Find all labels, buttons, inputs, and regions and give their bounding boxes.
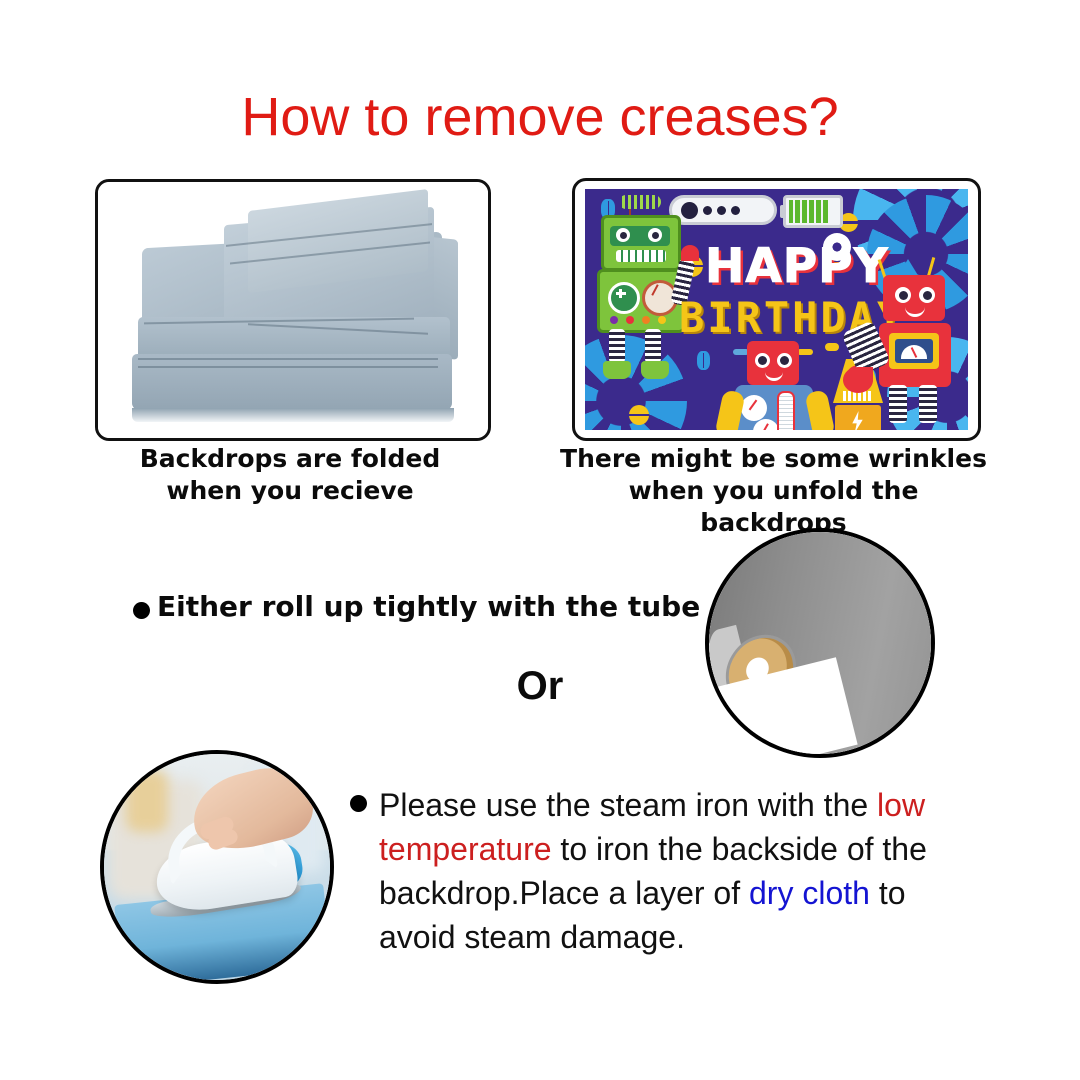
rolled-backdrop-photo <box>705 528 935 758</box>
backdrop-headline-top: HAPPY <box>705 239 889 294</box>
caption-line-1: Backdrops are folded <box>95 443 485 475</box>
caption-line-1: There might be some wrinkles <box>560 443 987 475</box>
steam-iron-photo <box>100 750 334 984</box>
caption-line-2: when you unfold the backdrops <box>560 475 987 539</box>
bullet-icon <box>350 795 367 812</box>
bullet-icon <box>133 602 150 619</box>
tip-roll-up-row: Either roll up tightly with the tube <box>133 590 700 623</box>
blue-red-robot-illustration <box>721 347 831 430</box>
tip-steam-iron-text: Please use the steam iron with the low t… <box>379 783 970 960</box>
dry-cloth-highlight: dry cloth <box>749 875 870 911</box>
folded-backdrop-caption: Backdrops are folded when you recieve <box>95 443 485 507</box>
happy-birthday-backdrop-frame: HAPPY BIRTHDAY <box>572 178 981 441</box>
instruction-infographic: How to remove creases? Backdrops are fol… <box>0 0 1080 1080</box>
iron-text-part-2: to iron the backside <box>552 831 838 867</box>
page-title: How to remove creases? <box>0 86 1080 148</box>
battery-icon <box>783 195 843 228</box>
happy-birthday-backdrop-photo: HAPPY BIRTHDAY <box>585 189 968 430</box>
rolled-backdrop-art <box>709 532 931 754</box>
screw-icon <box>697 351 710 370</box>
iron-text-part-1: Please use the steam iron with the <box>379 787 868 823</box>
fold-crease <box>138 358 438 360</box>
or-separator-label: Or <box>0 664 1080 709</box>
fold-crease <box>138 366 438 368</box>
caption-line-2: when you recieve <box>95 475 485 507</box>
bolt-icon <box>629 405 649 425</box>
red-robot-illustration <box>871 263 968 430</box>
gear-accent-icon <box>823 233 851 261</box>
folded-backdrop-photo-frame <box>95 179 491 441</box>
green-robot-illustration <box>595 211 687 391</box>
tip-steam-iron-row: Please use the steam iron with the low t… <box>350 783 970 960</box>
sheet-stack-bottom <box>132 354 452 410</box>
tip-roll-up-text: Either roll up tightly with the tube <box>157 590 700 623</box>
background-blur <box>126 770 168 832</box>
folded-backdrop-photo <box>98 182 488 438</box>
steam-iron-art <box>104 754 330 980</box>
sheet-shadow <box>132 408 454 422</box>
wrinkled-backdrop-caption: There might be some wrinkles when you un… <box>560 443 987 539</box>
